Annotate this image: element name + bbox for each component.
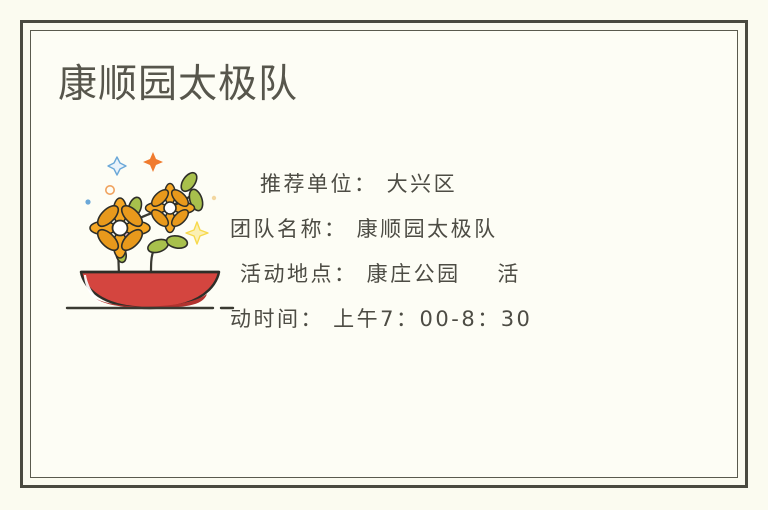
sparkle-blue-dot [85, 199, 90, 204]
sparkle-blue-star [108, 157, 126, 175]
page-root: 康顺园太极队 [0, 0, 768, 510]
flower-pot [81, 272, 219, 308]
sparkle-orange-ring [106, 186, 114, 194]
potted-flowers-illustration [65, 138, 235, 313]
info-line-activity-time: 动时间： 上午7：00-8：30 [230, 297, 710, 342]
sparkle-small-dot-a [212, 196, 216, 200]
info-line-recommending-unit: 推荐单位： 大兴区 [230, 162, 710, 207]
page-title: 康顺园太极队 [58, 62, 298, 108]
sparkle-yellow-star [186, 222, 208, 244]
info-line-activity-location: 活动地点： 康庄公园 活 [230, 252, 710, 297]
card-body: 康顺园太极队 [30, 30, 738, 478]
info-line-team-name: 团队名称： 康顺园太极队 [230, 207, 710, 252]
sparkle-orange-star [143, 152, 163, 172]
team-info-block: 推荐单位： 大兴区 团队名称： 康顺园太极队 活动地点： 康庄公园 活 动时间：… [230, 162, 710, 342]
